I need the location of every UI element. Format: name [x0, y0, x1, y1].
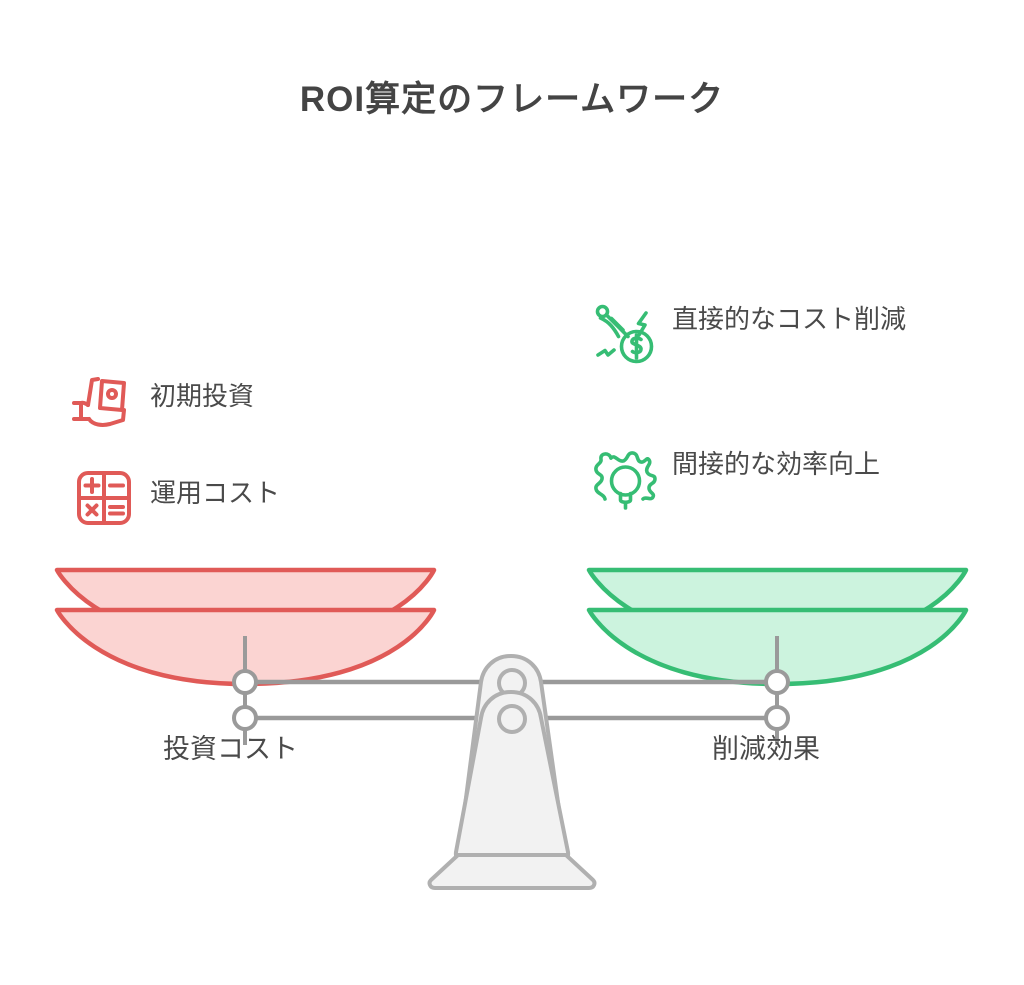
left-pan-caption: 投資コスト: [163, 732, 298, 766]
fulcrum-base: [430, 855, 595, 888]
balance-scale-graphic: [0, 0, 1024, 985]
roi-framework-diagram: ROI算定のフレームワーク 初期投資: [0, 0, 1024, 985]
right-pan-caption: 削減効果: [712, 732, 820, 766]
